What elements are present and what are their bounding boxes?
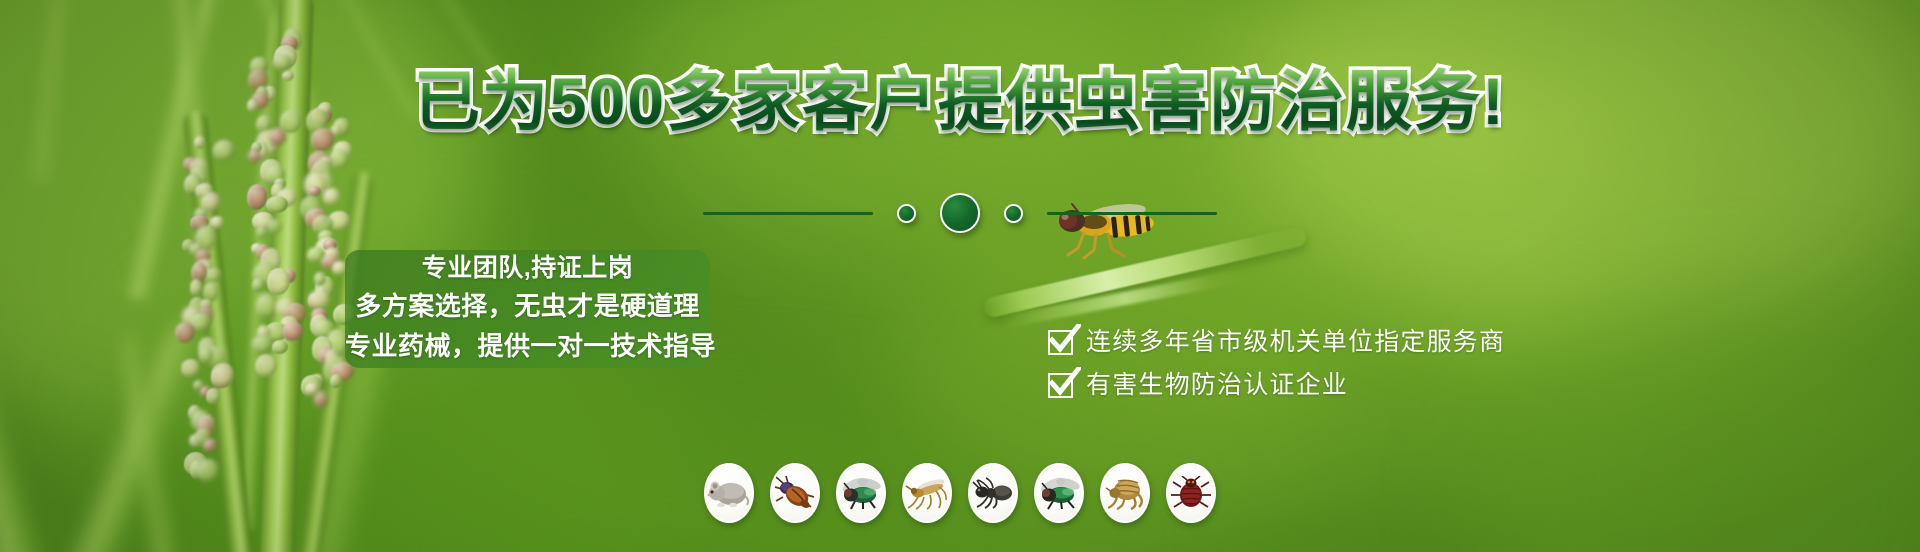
checkbox-checked-icon bbox=[1048, 373, 1073, 398]
list-item: 连续多年省市级机关单位指定服务商 bbox=[1048, 330, 1505, 355]
blowfly-icon[interactable] bbox=[1034, 463, 1084, 523]
mosquito-icon[interactable] bbox=[902, 463, 952, 523]
checkbox-checked-icon bbox=[1048, 330, 1073, 355]
divider-rule-left bbox=[703, 212, 873, 215]
mouse-icon[interactable] bbox=[704, 463, 754, 523]
claims-panel: 专业团队,持证上岗 多方案选择，无虫才是硬道理 专业药械，提供一对一技术指导 bbox=[345, 250, 710, 368]
claim-line-1: 专业团队,持证上岗 bbox=[345, 250, 710, 286]
credential-label: 有害生物防治认证企业 bbox=[1086, 373, 1348, 398]
headline-text: 已为500多家客户提供虫害防治服务! bbox=[414, 64, 1506, 138]
credentials-list: 连续多年省市级机关单位指定服务商 有害生物防治认证企业 bbox=[1048, 330, 1505, 398]
credential-label: 连续多年省市级机关单位指定服务商 bbox=[1086, 330, 1505, 355]
divider-dot-large bbox=[940, 193, 980, 233]
cockroach-icon[interactable] bbox=[770, 463, 820, 523]
decorative-divider bbox=[0, 196, 1920, 230]
pest-control-hero-banner: 已为500多家客户提供虫害防治服务! 已为500多家客户提供虫害防治服务! 专业… bbox=[0, 0, 1920, 552]
divider-dot-small-left bbox=[897, 204, 916, 223]
list-item: 有害生物防治认证企业 bbox=[1048, 373, 1505, 398]
divider-dot-small-right bbox=[1004, 204, 1023, 223]
divider-rule-right bbox=[1047, 212, 1217, 215]
page-title: 已为500多家客户提供虫害防治服务! 已为500多家客户提供虫害防治服务! bbox=[0, 68, 1920, 134]
fly-icon[interactable] bbox=[836, 463, 886, 523]
flea-icon[interactable] bbox=[1100, 463, 1150, 523]
claim-line-2: 多方案选择，无虫才是硬道理 bbox=[345, 286, 710, 326]
bedbug-icon[interactable] bbox=[1166, 463, 1216, 523]
claim-line-3: 专业药械，提供一对一技术指导 bbox=[345, 326, 710, 366]
ant-icon[interactable] bbox=[968, 463, 1018, 523]
pest-type-icon-row bbox=[0, 463, 1920, 523]
